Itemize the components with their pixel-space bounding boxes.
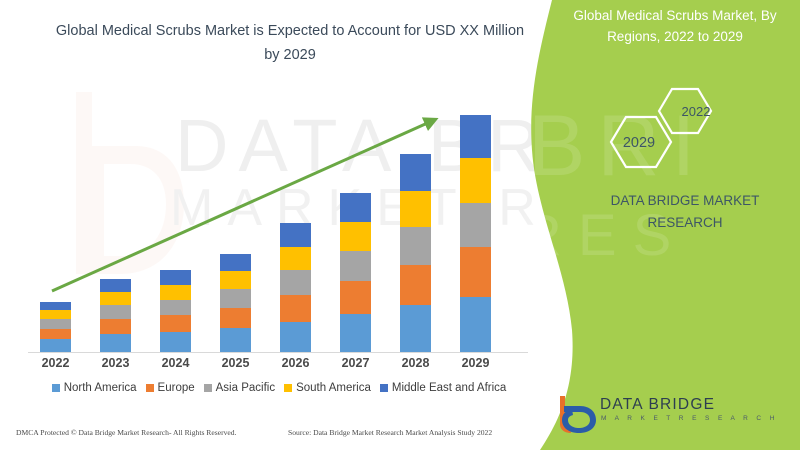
bar-segment [100,305,131,319]
bar-segment [340,251,371,281]
bar-segment [340,193,371,222]
bar-segment [400,154,431,191]
bar-segment [340,281,371,314]
chart-x-axis [28,352,528,353]
logo-title: DATA BRIDGE [600,396,715,414]
legend-item-asia-pacific[interactable]: Asia Pacific [204,382,275,394]
x-axis-label-2029: 2029 [446,356,506,370]
svg-text:BRI: BRI [528,98,707,194]
legend-swatch-icon [380,384,388,392]
bar-2022[interactable] [40,302,71,352]
chart-legend: North AmericaEuropeAsia PacificSouth Ame… [24,382,534,394]
bar-segment [340,222,371,251]
hexagon-2022-shape [659,89,711,133]
bar-segment [160,285,191,300]
bar-segment [460,115,491,158]
legend-swatch-icon [52,384,60,392]
bar-2027[interactable] [340,193,371,352]
bar-segment [100,319,131,334]
legend-swatch-icon [204,384,212,392]
hexagon-2029-shape [611,117,671,167]
bar-segment [100,279,131,292]
bar-2028[interactable] [400,154,431,352]
bar-segment [280,295,311,321]
page-title: Global Medical Scrubs Market is Expected… [52,20,528,68]
x-axis-label-2028: 2028 [386,356,446,370]
green-panel-brand-text: DATA BRIDGE MARKET RESEARCH [580,190,790,233]
legend-swatch-icon [146,384,154,392]
legend-label: Asia Pacific [216,382,275,394]
bar-2025[interactable] [220,254,251,352]
bar-segment [460,158,491,203]
bar-segment [400,227,431,265]
bar-segment [400,191,431,228]
bar-segment [280,223,311,247]
bar-2023[interactable] [100,279,131,352]
bar-segment [220,308,251,328]
bar-segment [280,270,311,295]
green-panel-title: Global Medical Scrubs Market, By Regions… [556,6,794,48]
bar-2024[interactable] [160,270,191,352]
bar-segment [220,289,251,308]
bar-segment [100,292,131,306]
x-axis-label-2022: 2022 [26,356,86,370]
bar-2026[interactable] [280,223,311,352]
bar-segment [40,319,71,329]
bar-segment [340,314,371,352]
bar-segment [220,271,251,289]
bar-segment [460,247,491,296]
x-axis-label-2025: 2025 [206,356,266,370]
bar-segment [40,329,71,339]
legend-item-europe[interactable]: Europe [146,382,195,394]
hexagon-2022-label: 2022 [672,104,720,119]
x-axis-label-2027: 2027 [326,356,386,370]
bar-2029[interactable] [460,115,491,352]
bar-segment [280,322,311,352]
infographic-root: DATA BRIDGE MARKET RESEARCH BRI RES Glob… [0,0,800,450]
legend-item-north-america[interactable]: North America [52,382,137,394]
x-axis-labels: 20222023202420252026202720282029 [0,356,545,376]
bar-segment [220,328,251,352]
footer-logo: DATA BRIDGE M A R K E T R E S E A R C H [556,392,736,436]
legend-label: South America [296,382,371,394]
bar-segment [160,315,191,331]
legend-item-south-america[interactable]: South America [284,382,371,394]
x-axis-label-2023: 2023 [86,356,146,370]
bar-segment [100,334,131,352]
data-bridge-mark-icon [556,394,598,434]
legend-label: Middle East and Africa [392,382,506,394]
bar-segment [40,310,71,319]
logo-subtitle: M A R K E T R E S E A R C H [601,415,778,422]
bar-segment [460,203,491,247]
bar-segment [160,270,191,285]
legend-item-middle-east-and-africa[interactable]: Middle East and Africa [380,382,506,394]
svg-text:RES: RES [520,203,687,268]
bar-segment [220,254,251,272]
footer-source: Source: Data Bridge Market Research Mark… [288,428,492,437]
legend-swatch-icon [284,384,292,392]
legend-label: Europe [158,382,195,394]
bar-segment [160,332,191,352]
bar-segment [40,302,71,311]
bar-segment [400,265,431,305]
stacked-bar-chart [0,95,545,353]
x-axis-label-2026: 2026 [266,356,326,370]
bar-segment [160,300,191,315]
bar-segment [400,305,431,352]
hexagon-2029-label: 2029 [612,135,666,151]
legend-label: North America [64,382,137,394]
bar-segment [460,297,491,352]
x-axis-label-2024: 2024 [146,356,206,370]
bar-segment [280,247,311,270]
bar-segment [40,339,71,352]
footer-copyright: DMCA Protected © Data Bridge Market Rese… [16,428,236,437]
